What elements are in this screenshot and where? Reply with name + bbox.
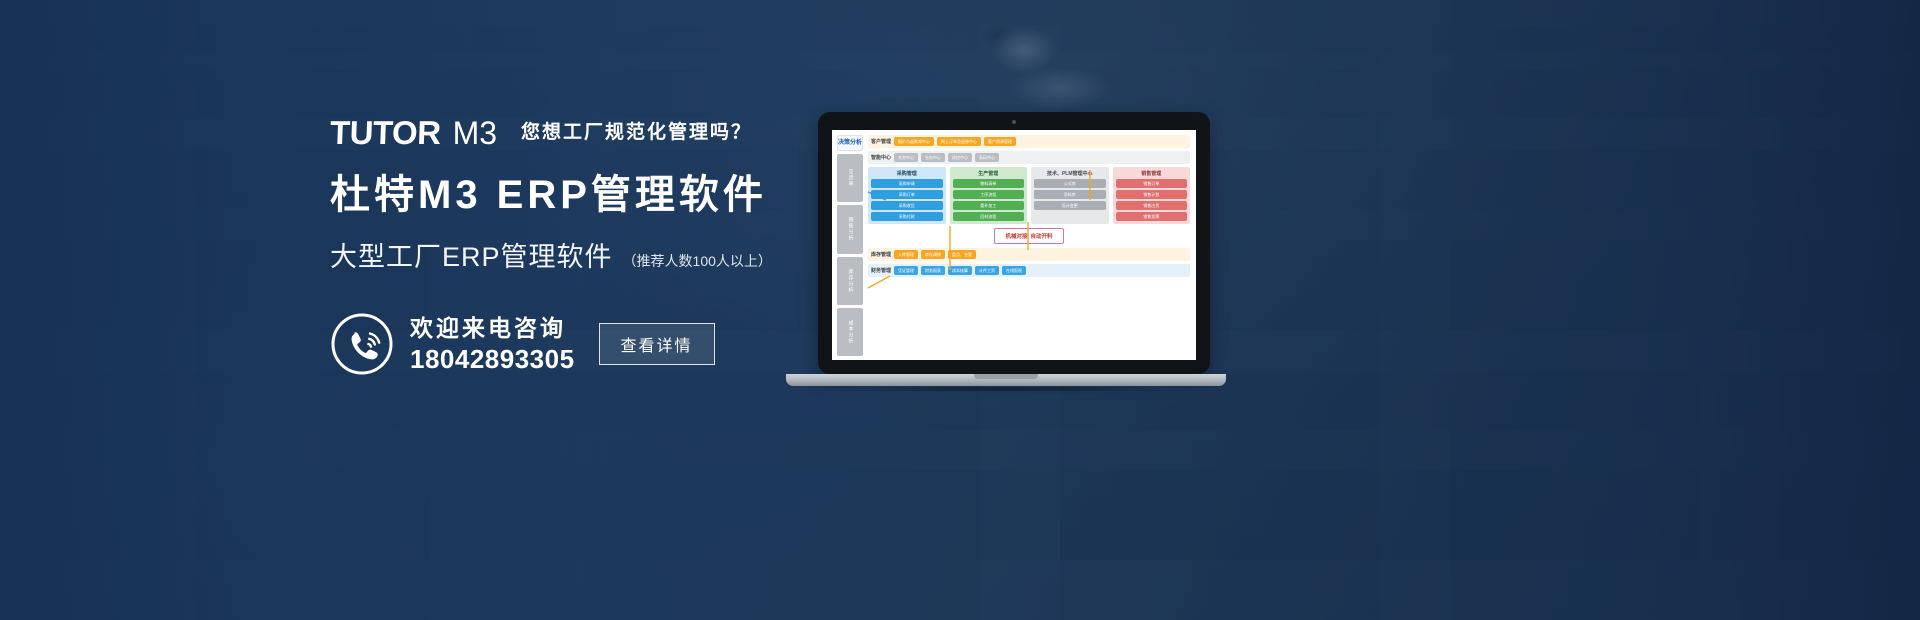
erp-column-title: 生产管理 — [953, 170, 1025, 177]
laptop-mockup: 决策分析 交货率 销售分析 库存分析 成本分析 客户管理 报价与退款知中心 网上… — [786, 112, 1226, 402]
erp-cell[interactable]: 销售出货 — [1116, 201, 1188, 210]
laptop-shadow — [792, 386, 1220, 393]
erp-left-rail: 决策分析 交货率 销售分析 库存分析 成本分析 — [837, 135, 863, 356]
hero-banner: TUTOR M3 您想工厂规范化管理吗？ 杜特M3 ERP管理软件 大型工厂ER… — [0, 0, 1920, 620]
brand-model: M3 — [453, 116, 497, 150]
erp-chip[interactable]: 网上订单及返修中心 — [937, 137, 981, 146]
erp-chip[interactable]: 客户资源管理 — [984, 137, 1016, 146]
erp-cell[interactable]: 回材流程 — [953, 212, 1025, 221]
erp-strip-finance: 财务管理 凭证管理 财务报表 成本核算 计件工资 在线报税 — [868, 264, 1190, 277]
erp-chip[interactable]: 计件工资 — [975, 266, 999, 275]
erp-cell[interactable]: 公式库 — [1034, 179, 1106, 188]
erp-cell[interactable]: 委外加工 — [953, 201, 1025, 210]
cta-row: 欢迎来电咨询 18042893305 查看详情 — [330, 312, 850, 376]
erp-column-production: 生产管理 物料清单 工序流程 委外加工 回材流程 — [950, 167, 1028, 224]
erp-column-purchasing: 采购管理 采购申请 采购订单 采购收货 采购付款 — [868, 167, 946, 224]
erp-strip-title: 智能中心 — [871, 154, 891, 161]
subtitle-text: 大型工厂ERP管理软件 — [330, 240, 613, 274]
view-details-button[interactable]: 查看详情 — [599, 323, 715, 365]
erp-main-area: 客户管理 报价与退款知中心 网上订单及返修中心 客户资源管理 智能中心 关务中心… — [868, 135, 1190, 356]
contact-label: 欢迎来电咨询 — [410, 313, 575, 343]
erp-rail-item[interactable]: 库存分析 — [837, 257, 863, 305]
laptop-camera-icon — [1012, 120, 1016, 124]
hero-content: TUTOR M3 您想工厂规范化管理吗？ 杜特M3 ERP管理软件 大型工厂ER… — [330, 112, 850, 376]
brand-tagline: 您想工厂规范化管理吗？ — [521, 116, 752, 150]
erp-module-columns: 采购管理 采购申请 采购订单 采购收货 采购付款 生产管理 物料清单 工序流程 … — [868, 167, 1190, 224]
erp-strip-customer: 客户管理 报价与退款知中心 网上订单及返修中心 客户资源管理 — [868, 135, 1190, 148]
erp-chip[interactable]: 条码中心 — [975, 153, 999, 162]
erp-strip-title: 财务管理 — [871, 267, 891, 274]
erp-chip[interactable]: 在线报税 — [1002, 266, 1026, 275]
brand-logo: TUTOR M3 您想工厂规范化管理吗？ — [330, 112, 850, 150]
laptop-lid: 决策分析 交货率 销售分析 库存分析 成本分析 客户管理 报价与退款知中心 网上… — [818, 112, 1210, 374]
erp-strip-title: 库存管理 — [871, 251, 891, 258]
erp-rail-item[interactable]: 成本分析 — [837, 308, 863, 356]
erp-chip[interactable]: 关务中心 — [894, 153, 918, 162]
erp-cell[interactable]: 资料库 — [1034, 190, 1106, 199]
erp-chip[interactable]: 报价与退款知中心 — [894, 137, 934, 146]
erp-chip[interactable]: 仓存中心 — [921, 153, 945, 162]
erp-column-title: 技术、PLM管理中心 — [1034, 170, 1106, 177]
contact-phone-number[interactable]: 18042893305 — [410, 343, 575, 375]
erp-cell[interactable]: 采购订单 — [871, 190, 943, 199]
erp-flow-diagram: 决策分析 交货率 销售分析 库存分析 成本分析 客户管理 报价与退款知中心 网上… — [832, 130, 1196, 360]
subtitle-note: （推荐人数100人以上） — [623, 244, 772, 278]
contact-block[interactable]: 欢迎来电咨询 18042893305 — [330, 312, 575, 376]
erp-cell[interactable]: 采购付款 — [871, 212, 943, 221]
laptop-screen: 决策分析 交货率 销售分析 库存分析 成本分析 客户管理 报价与退款知中心 网上… — [832, 130, 1196, 360]
erp-rail-header: 决策分析 — [837, 135, 863, 151]
erp-chip[interactable]: 库存调拨 — [921, 250, 945, 259]
erp-cell[interactable]: 工序流程 — [953, 190, 1025, 199]
erp-column-technology-plm: 技术、PLM管理中心 公式库 资料库 设计变更 — [1031, 167, 1109, 224]
erp-cell[interactable]: 采购申请 — [871, 179, 943, 188]
erp-rail-item[interactable]: 交货率 — [837, 154, 863, 202]
brand-wordmark: TUTOR — [329, 116, 441, 150]
erp-chip[interactable]: 盘点、仓管 — [948, 250, 976, 259]
erp-bottom-strips: 库存管理 入库管理 库存调拨 盘点、仓管 财务管理 凭证管理 财务报表 成本核算… — [868, 248, 1190, 277]
erp-column-title: 销售管理 — [1116, 170, 1188, 177]
erp-strip-smart-center: 智能中心 关务中心 仓存中心 质控中心 条码中心 — [868, 151, 1190, 164]
erp-column-sales: 销售管理 销售订单 销售计划 销售出货 销售发票 — [1113, 167, 1191, 224]
erp-cell[interactable]: 销售订单 — [1116, 179, 1188, 188]
contact-texts: 欢迎来电咨询 18042893305 — [410, 313, 575, 375]
erp-strip-inventory: 库存管理 入库管理 库存调拨 盘点、仓管 — [868, 248, 1190, 261]
erp-highlight-banner: 机械对接, 自动开料 — [994, 228, 1063, 244]
erp-chip[interactable]: 财务报表 — [921, 266, 945, 275]
erp-chip[interactable]: 质控中心 — [948, 153, 972, 162]
erp-chip[interactable]: 入库管理 — [894, 250, 918, 259]
laptop-trackpad-notch — [974, 374, 1038, 379]
erp-cell[interactable]: 采购收货 — [871, 201, 943, 210]
erp-chip[interactable]: 凭证管理 — [894, 266, 918, 275]
erp-column-title: 采购管理 — [871, 170, 943, 177]
erp-cell[interactable]: 销售计划 — [1116, 190, 1188, 199]
subtitle-row: 大型工厂ERP管理软件 （推荐人数100人以上） — [330, 240, 850, 278]
erp-cell[interactable]: 销售发票 — [1116, 212, 1188, 221]
erp-cell[interactable]: 设计变更 — [1034, 201, 1106, 210]
page-title: 杜特M3 ERP管理软件 — [330, 172, 850, 218]
phone-call-icon — [330, 312, 394, 376]
erp-rail-item[interactable]: 销售分析 — [837, 205, 863, 253]
erp-chip[interactable]: 成本核算 — [948, 266, 972, 275]
erp-cell[interactable]: 物料清单 — [953, 179, 1025, 188]
erp-strip-title: 客户管理 — [871, 138, 891, 145]
